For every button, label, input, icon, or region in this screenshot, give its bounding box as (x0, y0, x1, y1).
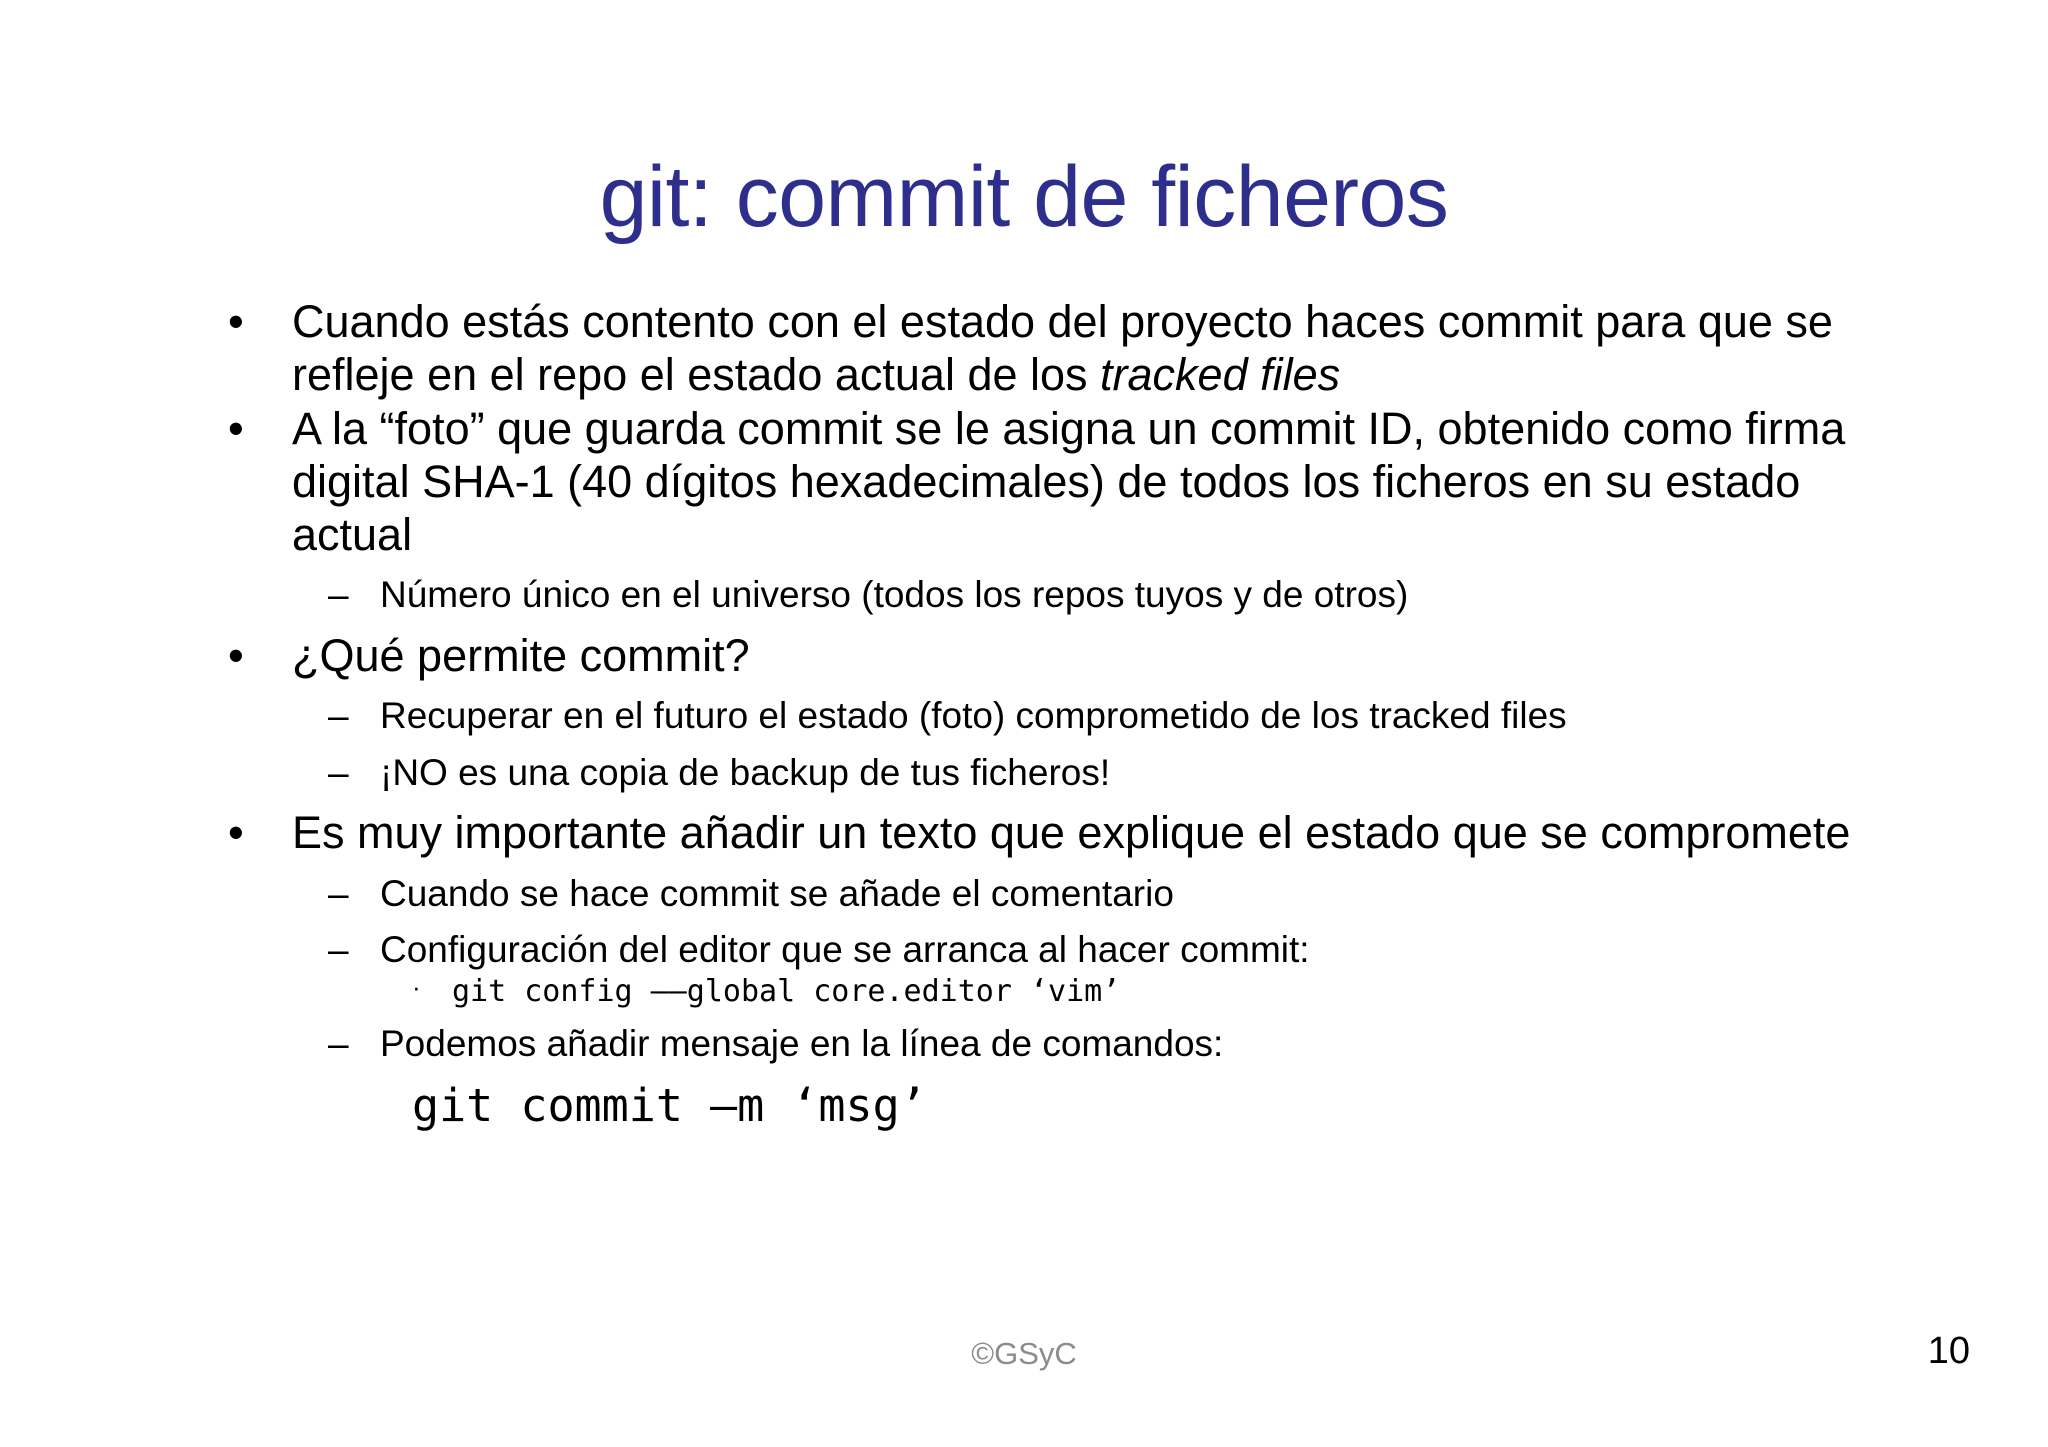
list-item-label: Podemos añadir mensaje en la línea de co… (380, 1023, 1223, 1064)
list-item-label: Cuando estás contento con el estado del … (292, 296, 1833, 400)
list-item-label: ¡NO es una copia de backup de tus ficher… (380, 752, 1110, 793)
list-item-emphasis: tracked files (1100, 349, 1340, 400)
dash-marker-icon: – (328, 1022, 349, 1066)
slide-canvas: git: commit de ficheros • Cuando estás c… (0, 0, 2048, 1447)
dash-marker-icon: – (328, 573, 349, 617)
list-item: – ¡NO es una copia de backup de tus fich… (216, 751, 1906, 795)
list-item-label: Cuando se hace commit se añade el coment… (380, 873, 1174, 914)
list-item: • Cuando estás contento con el estado de… (216, 296, 1906, 401)
dot-marker-icon: · (412, 972, 421, 1003)
bullet-marker-icon: • (228, 630, 244, 683)
dash-marker-icon: – (328, 872, 349, 916)
spacer (216, 620, 1906, 630)
spacer (216, 563, 1906, 573)
page-number: 10 (1928, 1330, 1970, 1373)
dash-marker-icon: – (328, 694, 349, 738)
spacer (216, 741, 1906, 751)
footer-copyright: ©GSyC (0, 1336, 2048, 1372)
slide-body-content: • Cuando estás contento con el estado de… (216, 296, 1906, 1133)
spacer (216, 1069, 1906, 1079)
page-title: git: commit de ficheros (0, 154, 2048, 240)
list-item-label: Recuperar en el futuro el estado (foto) … (380, 695, 1567, 736)
list-item-label: Es muy importante añadir un texto que ex… (292, 807, 1850, 858)
list-item: • Es muy importante añadir un texto que … (216, 807, 1906, 860)
dash-marker-icon: – (328, 751, 349, 795)
spacer (216, 918, 1906, 928)
list-item: – Podemos añadir mensaje en la línea de … (216, 1022, 1906, 1066)
spacer (216, 862, 1906, 872)
list-item: – Número único en el universo (todos los… (216, 573, 1906, 617)
list-item: • ¿Qué permite commit? (216, 630, 1906, 683)
list-item: – Cuando se hace commit se añade el come… (216, 872, 1906, 916)
bullet-marker-icon: • (228, 807, 244, 860)
list-item-label: ¿Qué permite commit? (292, 630, 750, 681)
bullet-marker-icon: • (228, 296, 244, 349)
list-item: • A la “foto” que guarda commit se le as… (216, 403, 1906, 561)
list-item: – Configuración del editor que se arranc… (216, 928, 1906, 972)
dash-marker-icon: – (328, 928, 349, 972)
list-item-label: Número único en el universo (todos los r… (380, 574, 1408, 615)
command-line-code: git commit –m ‘msg’ (216, 1079, 1906, 1133)
list-item-label: Configuración del editor que se arranca … (380, 929, 1310, 970)
list-item-code: · git config ––global core.editor ‘vim’ (216, 974, 1906, 1010)
code-snippet-label: git config ––global core.editor ‘vim’ (452, 974, 1120, 1009)
spacer (216, 797, 1906, 807)
spacer (216, 684, 1906, 694)
spacer (216, 1012, 1906, 1022)
bullet-marker-icon: • (228, 403, 244, 456)
list-item: – Recuperar en el futuro el estado (foto… (216, 694, 1906, 738)
list-item-label: A la “foto” que guarda commit se le asig… (292, 403, 1845, 559)
